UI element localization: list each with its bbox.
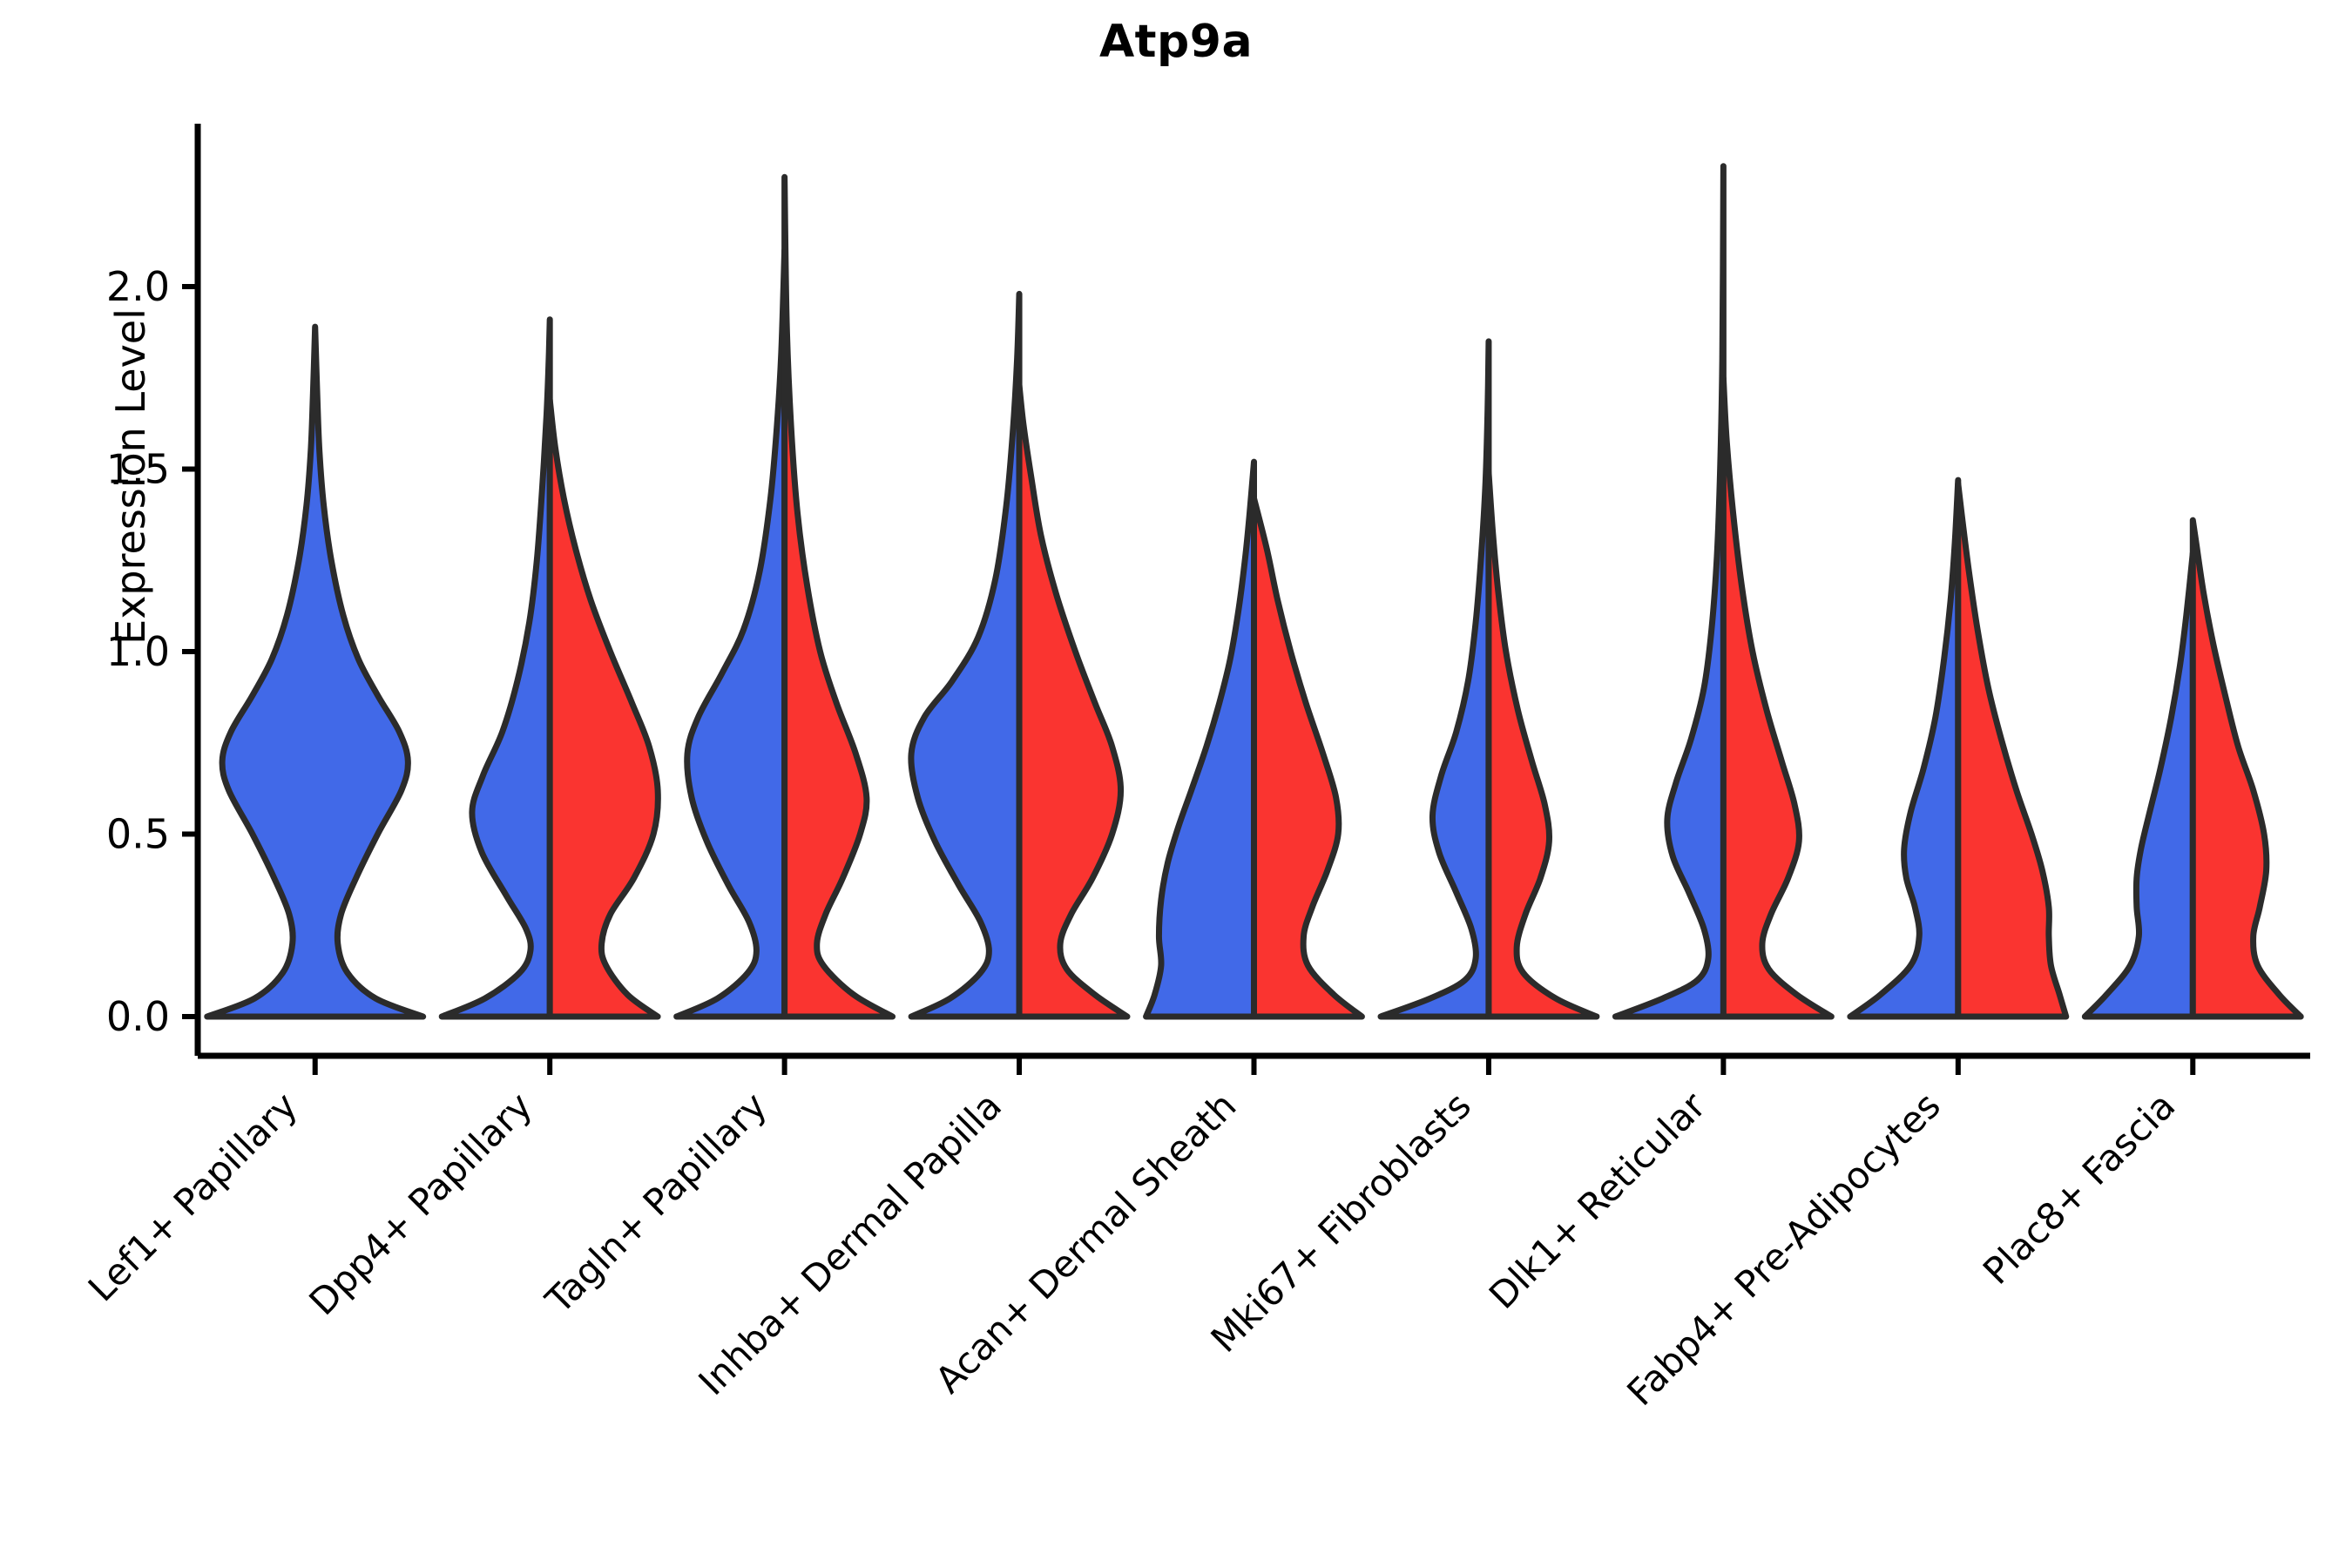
violin-group[interactable] xyxy=(2085,520,2301,1017)
violin-shape-group-b[interactable] xyxy=(1489,473,1597,1017)
violin-shape-group-a[interactable] xyxy=(1146,462,1254,1017)
violin-group[interactable] xyxy=(442,320,658,1017)
x-tick-label: Tagln+ Papillary xyxy=(537,1084,774,1321)
violin-shape-group-a[interactable] xyxy=(677,250,785,1017)
violin-shape-group-b[interactable] xyxy=(1254,498,1362,1017)
x-tick-label: Plac8+ Fascia xyxy=(1975,1084,2183,1292)
violin-shape-group-a[interactable] xyxy=(1850,480,1958,1017)
violin-shape-group-b[interactable] xyxy=(785,177,893,1017)
y-tick-label: 0.5 xyxy=(106,811,170,858)
y-tick-label: 2.0 xyxy=(106,263,170,310)
violin-shape-group-a[interactable] xyxy=(2085,553,2193,1017)
violin-group[interactable] xyxy=(1381,341,1597,1017)
violin-group[interactable] xyxy=(911,294,1127,1017)
violin-shape-group-b[interactable] xyxy=(2193,520,2301,1017)
y-tick-label: 1.0 xyxy=(106,628,170,675)
violin-shape-group-b[interactable] xyxy=(1019,385,1127,1017)
violin-shape-group-b[interactable] xyxy=(550,400,658,1017)
violin-shape-group-a[interactable] xyxy=(1615,166,1723,1017)
violin-group[interactable] xyxy=(207,327,423,1017)
x-tick-label: Dlk1+ Reticular xyxy=(1481,1084,1714,1317)
y-tick-label: 1.5 xyxy=(106,446,170,493)
y-tick-label: 0.0 xyxy=(106,993,170,1040)
violin-shape-group-b[interactable] xyxy=(1723,378,1831,1017)
violin-group[interactable] xyxy=(677,177,893,1017)
x-tick-label: Dpp4+ Papillary xyxy=(301,1084,540,1323)
violin-shape-group-a[interactable] xyxy=(1381,341,1489,1017)
violin-shape-group-a[interactable] xyxy=(442,320,550,1017)
x-tick-label: Lef1+ Papillary xyxy=(80,1084,306,1309)
violin-plot-figure: Atp9a Expression Level 0.00.51.01.52.0Le… xyxy=(0,0,2352,1568)
violin-group[interactable] xyxy=(1146,462,1362,1017)
violin-shape-group-a[interactable] xyxy=(207,327,423,1017)
violin-shape-group-a[interactable] xyxy=(911,294,1019,1017)
x-tick-label: Mki67+ Fibroblasts xyxy=(1203,1084,1479,1360)
violin-shape-group-b[interactable] xyxy=(1958,483,2066,1017)
violin-group[interactable] xyxy=(1615,166,1831,1017)
plot-area: 0.00.51.01.52.0Lef1+ PapillaryDpp4+ Papi… xyxy=(0,0,2352,1568)
violin-group[interactable] xyxy=(1850,480,2066,1017)
